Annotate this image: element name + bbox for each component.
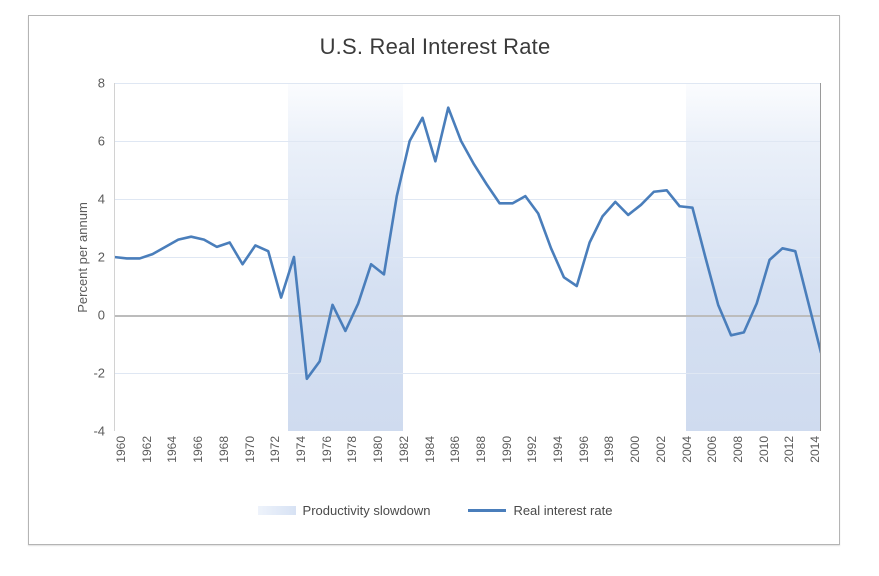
y-tick-label-6: 6 (98, 134, 105, 149)
x-tick-label-2002: 2002 (654, 436, 668, 463)
chart-legend: Productivity slowdown Real interest rate (29, 503, 841, 518)
plot-area: 86420-2-4 (114, 83, 821, 431)
x-tick-label-2012: 2012 (782, 436, 796, 463)
y-tick-label-8: 8 (98, 76, 105, 91)
x-tick-label-1988: 1988 (474, 436, 488, 463)
series-line (114, 108, 821, 379)
x-tick-label-1968: 1968 (217, 436, 231, 463)
chart-title: U.S. Real Interest Rate (29, 34, 841, 60)
x-tick-label-2014: 2014 (808, 436, 822, 463)
plot-inner (114, 83, 821, 431)
legend-label-band: Productivity slowdown (303, 503, 431, 518)
x-tick-label-1966: 1966 (191, 436, 205, 463)
x-tick-label-1992: 1992 (525, 436, 539, 463)
series-real-interest-rate (114, 83, 821, 431)
line-swatch-icon (468, 509, 506, 512)
plot-right-border (820, 83, 821, 431)
x-tick-label-2004: 2004 (680, 436, 694, 463)
y-tick-label-2: 2 (98, 250, 105, 265)
x-tick-label-2000: 2000 (628, 436, 642, 463)
x-tick-label-2010: 2010 (757, 436, 771, 463)
x-tick-label-1984: 1984 (423, 436, 437, 463)
y-axis-line (114, 83, 115, 431)
x-tick-label-1976: 1976 (320, 436, 334, 463)
chart-container: U.S. Real Interest Rate Percent per annu… (28, 15, 840, 545)
x-tick-label-1978: 1978 (345, 436, 359, 463)
x-tick-label-1986: 1986 (448, 436, 462, 463)
x-tick-label-1990: 1990 (500, 436, 514, 463)
legend-label-line: Real interest rate (513, 503, 612, 518)
x-tick-label-1982: 1982 (397, 436, 411, 463)
x-tick-label-1972: 1972 (268, 436, 282, 463)
x-tick-label-1998: 1998 (602, 436, 616, 463)
x-tick-label-1962: 1962 (140, 436, 154, 463)
y-tick-label--4: -4 (93, 424, 105, 439)
y-tick-label--2: -2 (93, 366, 105, 381)
x-tick-label-1960: 1960 (114, 436, 128, 463)
x-tick-label-1996: 1996 (577, 436, 591, 463)
y-tick-label-0: 0 (98, 308, 105, 323)
band-swatch-icon (258, 506, 296, 515)
y-axis-label-text: Percent per annum (75, 202, 90, 313)
x-tick-label-2008: 2008 (731, 436, 745, 463)
legend-item-real-interest-rate: Real interest rate (468, 503, 612, 518)
x-axis-ticks: 1960196219641966196819701972197419761978… (114, 436, 821, 498)
x-tick-label-1970: 1970 (243, 436, 257, 463)
y-axis-label: Percent per annum (73, 83, 91, 431)
legend-item-productivity-slowdown: Productivity slowdown (258, 503, 431, 518)
y-tick-label-4: 4 (98, 192, 105, 207)
x-tick-label-1994: 1994 (551, 436, 565, 463)
x-tick-label-2006: 2006 (705, 436, 719, 463)
x-tick-label-1980: 1980 (371, 436, 385, 463)
x-tick-label-1964: 1964 (165, 436, 179, 463)
x-tick-label-1974: 1974 (294, 436, 308, 463)
